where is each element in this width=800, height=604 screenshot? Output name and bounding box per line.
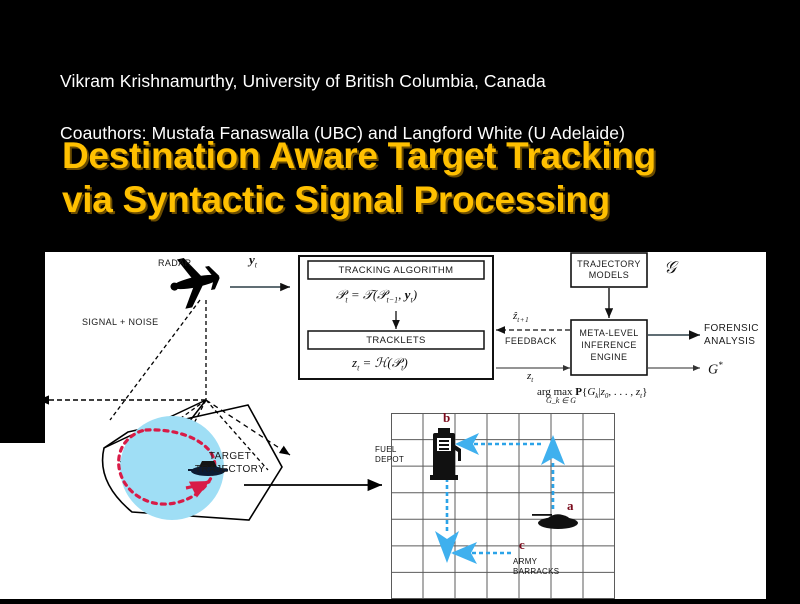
node-label-b: b [443, 410, 450, 426]
trajectory-models-label: TRAJECTORY MODELS [573, 259, 645, 281]
track-segment-a-up [541, 435, 565, 509]
track-segment-to-b [455, 433, 541, 455]
forensic-line-1: FORENSIC [704, 322, 759, 335]
tracklets-formula: zt = ℋ(𝒫t) [352, 355, 408, 373]
army-barracks-label: ARMY BARRACKS [513, 557, 583, 577]
scenario-grid-map: FUEL DEPOT ARMY BARRACKS b a c [391, 413, 615, 599]
target-trajectory-line-1: TARGET [182, 450, 278, 463]
tracking-algorithm-label: TRACKING ALGORITHM [330, 265, 462, 276]
feedback-symbol: ẑt + 1 [513, 310, 529, 324]
meta-level-label: META-LEVEL INFERENCE ENGINE [573, 327, 645, 363]
trajectory-models-line-1: TRAJECTORY [573, 259, 645, 270]
army-barracks-line-2: BARRACKS [513, 567, 583, 577]
signal-noise-label: SIGNAL + NOISE [82, 317, 159, 327]
army-barracks-line-1: ARMY [513, 557, 583, 567]
meta-level-line-2: INFERENCE [573, 339, 645, 351]
fuel-pump-icon [430, 428, 461, 480]
radar-label: RADAR [158, 258, 192, 268]
argmax-subscript: G_k ∈ G [546, 396, 576, 405]
meta-level-line-3: ENGINE [573, 351, 645, 363]
tracklets-label: TRACKLETS [340, 335, 452, 346]
fuel-depot-label: FUEL DEPOT [375, 445, 431, 465]
slide-root: Vikram Krishnamurthy, University of Brit… [0, 0, 800, 599]
node-label-a: a [567, 498, 574, 514]
meta-level-line-1: META-LEVEL [573, 327, 645, 339]
zt-symbol: zt [527, 370, 533, 384]
fuel-depot-line-2: DEPOT [375, 455, 431, 465]
trajectory-models-line-2: MODELS [573, 270, 645, 281]
tank-icon [532, 514, 578, 529]
gstar-symbol: G* [708, 360, 723, 379]
feedback-label: FEEDBACK [505, 336, 557, 346]
observation-symbol: yt [249, 252, 257, 270]
target-trajectory-label: TARGET TRAJECTORY [182, 450, 278, 476]
fuel-depot-line-1: FUEL [375, 445, 431, 455]
target-trajectory-line-2: TRAJECTORY [182, 463, 278, 476]
forensic-analysis-label: FORENSIC ANALYSIS [704, 322, 759, 348]
node-label-c: c [519, 537, 525, 553]
grammar-symbol: 𝒢 [664, 258, 676, 278]
forensic-line-2: ANALYSIS [704, 335, 759, 348]
tracking-algorithm-formula: 𝒫t = 𝒯(𝒫t−1, yt) [336, 287, 417, 305]
track-segment-to-c [451, 542, 511, 564]
